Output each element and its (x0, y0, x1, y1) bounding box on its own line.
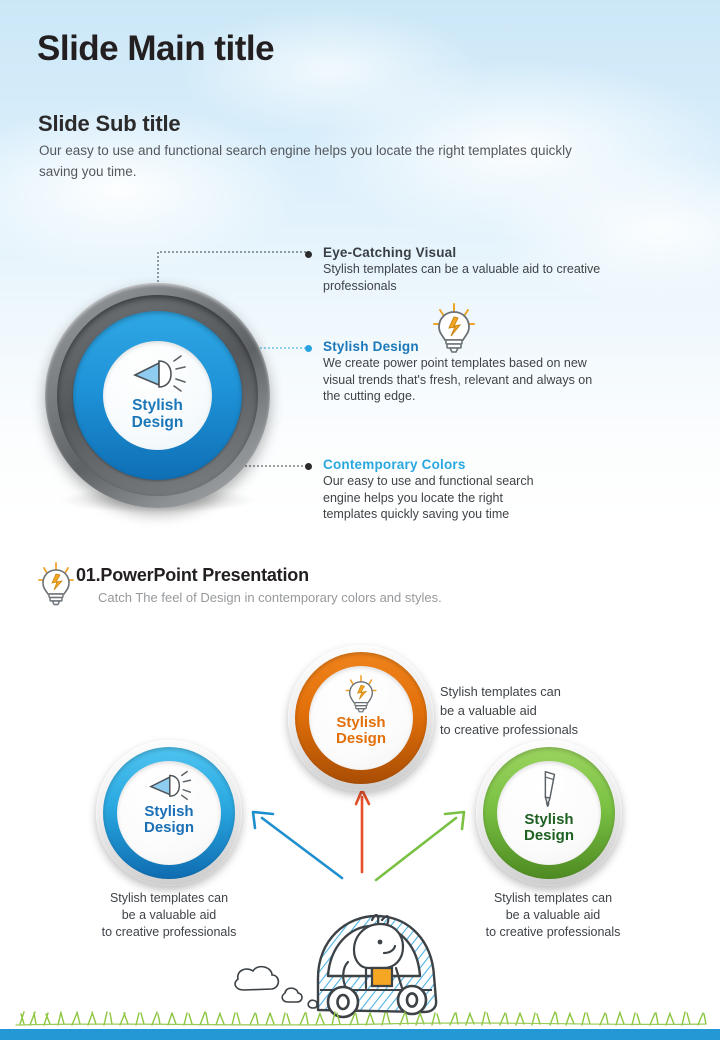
caption-line-2: be a valuable aid (440, 701, 578, 720)
bullet-item-contemporary-colors[interactable]: Contemporary Colors Our easy to use and … (305, 457, 555, 523)
caption-line-1: Stylish templates can (440, 682, 578, 701)
bullet-body: We create power point templates based on… (323, 355, 605, 405)
page-subtitle: Slide Sub title (38, 111, 180, 137)
circle-card-right[interactable]: Stylish Design (476, 740, 622, 886)
bullet-title: Contemporary Colors (323, 457, 555, 472)
hero-circle[interactable]: Stylish Design (45, 283, 270, 508)
caption-line-2: be a valuable aid (438, 907, 668, 924)
circle-label-line2: Design (336, 730, 386, 748)
hero-label-line2: Design (132, 413, 184, 432)
caption-line-1: Stylish templates can (438, 890, 668, 907)
hero-face: Stylish Design (103, 341, 212, 450)
bullet-body: Stylish templates can be a valuable aid … (323, 261, 605, 294)
circle-face: Stylish Design (497, 761, 601, 865)
grass-strip (0, 1000, 720, 1030)
bullet-title: Eye-Catching Visual (323, 245, 605, 260)
bullet-body: Our easy to use and functional search en… (323, 473, 555, 523)
circle-caption-center: Stylish templates can be a valuable aid … (440, 682, 578, 739)
caption-line-3: to creative professionals (438, 924, 668, 941)
bullet-item-stylish-design[interactable]: Stylish Design We create power point tem… (305, 339, 605, 405)
circle-face: Stylish Design (309, 666, 413, 770)
circle-card-center[interactable]: Stylish Design (288, 645, 434, 791)
pencil-icon (536, 769, 562, 809)
bullet-dot-icon (305, 251, 312, 258)
slide-canvas: Slide Main title Slide Sub title Our eas… (0, 0, 720, 1040)
circle-caption-right: Stylish templates can be a valuable aid … (438, 890, 668, 941)
section-subtitle: Catch The feel of Design in contemporary… (98, 590, 442, 605)
section-heading-row: 01.PowerPoint Presentation Catch The fee… (38, 565, 558, 615)
megaphone-icon (129, 353, 187, 393)
circle-card-left[interactable]: Stylish Design (96, 740, 242, 886)
page-title: Slide Main title (37, 29, 274, 69)
lightbulb-icon (345, 674, 377, 714)
bullet-dot-icon (305, 463, 312, 470)
section-title: 01.PowerPoint Presentation (76, 565, 309, 586)
bullet-title: Stylish Design (323, 339, 605, 354)
circle-label-line2: Design (144, 819, 194, 837)
circle-face: Stylish Design (117, 761, 221, 865)
circle-label-line2: Design (524, 827, 574, 845)
megaphone-icon (146, 769, 192, 801)
page-description: Our easy to use and functional search en… (39, 140, 579, 182)
lightbulb-icon (38, 561, 74, 607)
bottom-accent-bar (0, 1029, 720, 1040)
caption-line-3: to creative professionals (440, 720, 578, 739)
bullet-dot-icon (305, 345, 312, 352)
bullet-item-eye-catching-visual[interactable]: Eye-Catching Visual Stylish templates ca… (305, 245, 605, 294)
